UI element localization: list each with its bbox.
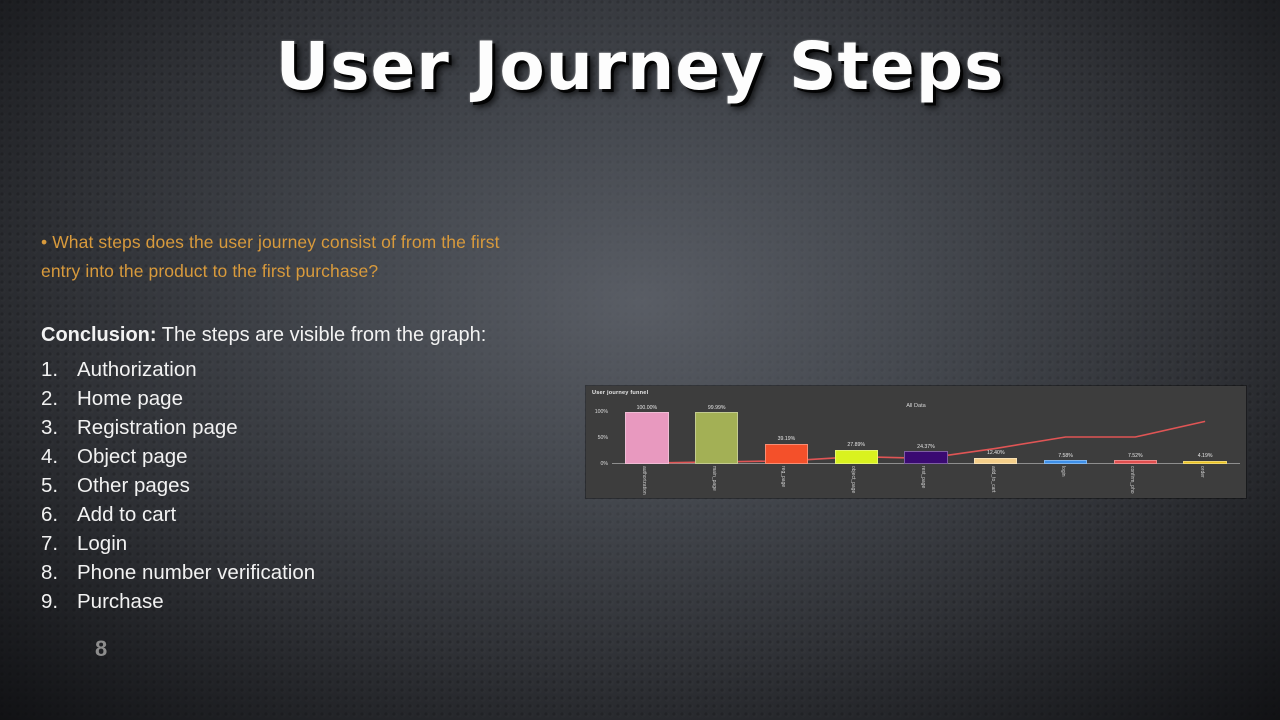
- list-item: 1. Authorization: [41, 355, 681, 384]
- chart-bar: [835, 450, 878, 465]
- list-item-number: 6.: [41, 500, 77, 529]
- conclusion-paragraph: Conclusion: The steps are visible from t…: [41, 322, 681, 348]
- chart-x-tick-label: order: [1199, 466, 1205, 478]
- list-item-label: Purchase: [77, 587, 164, 616]
- chart-x-tick-label: add_to_cart: [990, 466, 996, 492]
- list-item-number: 8.: [41, 558, 77, 587]
- chart-bar: [1183, 461, 1226, 464]
- chart-bar-group: 4.19%order: [1183, 412, 1226, 464]
- steps-list: 1. Authorization 2. Home page 3. Registr…: [41, 355, 681, 616]
- chart-bar: [904, 451, 947, 464]
- list-item-label: Object page: [77, 442, 188, 471]
- chart-x-tick-label: main_page: [711, 466, 717, 491]
- chart-x-tick-label: object_page: [850, 466, 856, 493]
- list-item-number: 9.: [41, 587, 77, 616]
- chart-bar-value-label: 4.19%: [1198, 453, 1213, 459]
- list-item-number: 2.: [41, 384, 77, 413]
- chart-bar-group: 7.58%login: [1044, 412, 1087, 464]
- conclusion-label: Conclusion:: [41, 324, 157, 346]
- chart-bar-group: 27.89%object_page: [835, 412, 878, 464]
- list-item: 6. Add to cart: [41, 500, 681, 529]
- chart-bar: [1114, 460, 1157, 464]
- chart-x-tick-label: authorization: [641, 466, 647, 495]
- chart-subtitle: All Data: [586, 403, 1246, 409]
- list-item-number: 7.: [41, 529, 77, 558]
- chart-bar: [1044, 460, 1087, 464]
- list-item: 7. Login: [41, 529, 681, 558]
- list-item-label: Home page: [77, 384, 183, 413]
- slide-canvas: User Journey Steps • What steps does the…: [0, 0, 1280, 720]
- chart-bar-group: 100.00%authorization: [625, 412, 668, 464]
- chart-plot-area: 100%50%0%100.00%authorization99.99%main_…: [612, 412, 1240, 464]
- chart-bar-group: 39.19%reg_page: [765, 412, 808, 464]
- list-item-label: Other pages: [77, 471, 190, 500]
- chart-x-tick-label: reg_page: [780, 466, 786, 487]
- list-item: 2. Home page: [41, 384, 681, 413]
- chart-bar-group: 99.99%main_page: [695, 412, 738, 464]
- chart-y-tick: 100%: [595, 409, 608, 415]
- chart-bar: [625, 412, 668, 464]
- chart-y-tick: 0%: [601, 461, 609, 467]
- conclusion-text: The steps are visible from the graph:: [157, 324, 487, 346]
- chart-bar-value-label: 100.00%: [637, 405, 657, 411]
- chart-x-tick-label: rest_page: [920, 466, 926, 488]
- list-item-label: Login: [77, 529, 127, 558]
- list-item: 3. Registration page: [41, 413, 681, 442]
- chart-bar-group: 7.52%confirm_pho: [1114, 412, 1157, 464]
- chart-bar-group: 24.37%rest_page: [904, 412, 947, 464]
- list-item: 9. Purchase: [41, 587, 681, 616]
- list-item-label: Phone number verification: [77, 558, 315, 587]
- chart-bar: [974, 458, 1017, 464]
- chart-bar-value-label: 99.99%: [708, 405, 726, 411]
- page-title: User Journey Steps: [0, 28, 1280, 105]
- chart-bar-value-label: 12.40%: [987, 450, 1005, 456]
- list-item: 4. Object page: [41, 442, 681, 471]
- body-content: • What steps does the user journey consi…: [41, 228, 681, 616]
- chart-x-tick-label: login: [1060, 466, 1066, 477]
- list-item-number: 1.: [41, 355, 77, 384]
- chart-bar-value-label: 24.37%: [917, 444, 935, 450]
- list-item-number: 3.: [41, 413, 77, 442]
- chart-bar-value-label: 7.58%: [1058, 453, 1073, 459]
- chart-bar: [695, 412, 738, 464]
- chart-bar-value-label: 27.89%: [847, 442, 865, 448]
- funnel-chart-image: User journey funnel All Data 100%50%0%10…: [586, 386, 1246, 498]
- chart-x-tick-label: confirm_pho: [1129, 466, 1135, 494]
- chart-title: User journey funnel: [592, 390, 648, 396]
- page-number: 8: [95, 636, 107, 662]
- chart-bar: [765, 444, 808, 464]
- chart-bar-group: 12.40%add_to_cart: [974, 412, 1017, 464]
- list-item-label: Authorization: [77, 355, 197, 384]
- list-item-number: 4.: [41, 442, 77, 471]
- chart-bar-value-label: 39.19%: [778, 436, 796, 442]
- chart-bar-value-label: 7.52%: [1128, 453, 1143, 459]
- bullet-question-line-1: • What steps does the user journey consi…: [41, 228, 681, 257]
- list-item: 5. Other pages: [41, 471, 681, 500]
- list-item-label: Add to cart: [77, 500, 176, 529]
- list-item-number: 5.: [41, 471, 77, 500]
- chart-y-tick: 50%: [598, 435, 608, 441]
- list-item: 8. Phone number verification: [41, 558, 681, 587]
- bullet-question-line-2: entry into the product to the first purc…: [41, 257, 681, 286]
- list-item-label: Registration page: [77, 413, 238, 442]
